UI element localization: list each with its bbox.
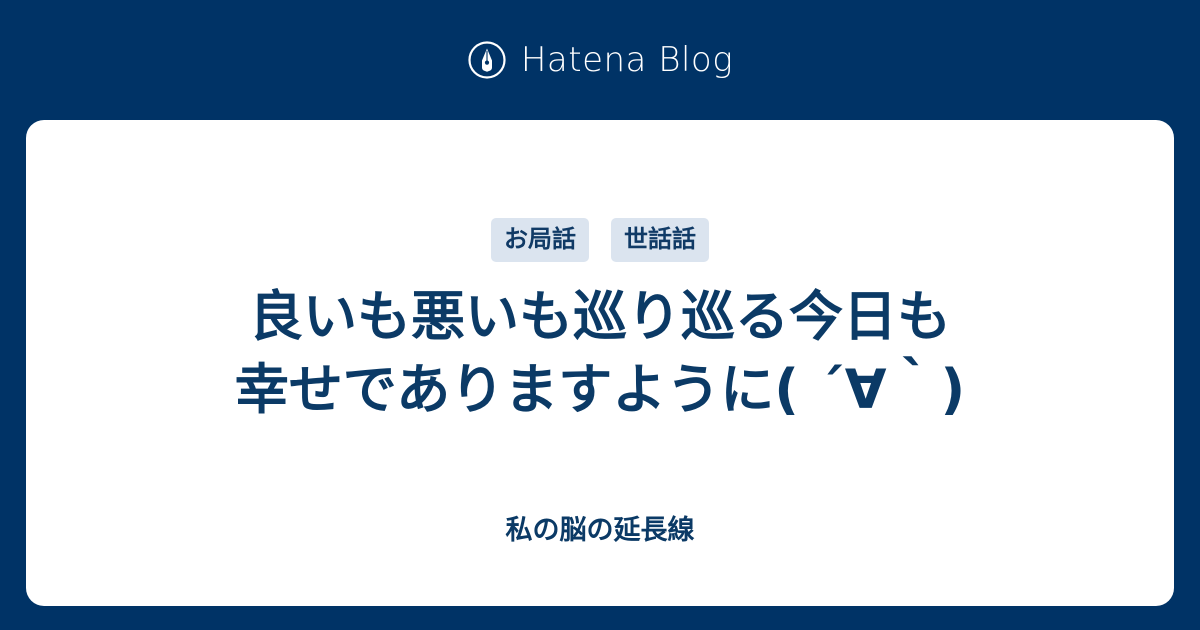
- hatena-blog-brand-name: Hatena Blog: [521, 43, 733, 77]
- entry-title-line: 幸せでありますように( ´∀｀): [100, 353, 1100, 426]
- entry-title-line: 良いも悪いも巡り巡る今日も: [100, 280, 1100, 353]
- hatena-pen-nib-icon: [467, 40, 507, 80]
- hatena-blog-brand-header: Hatena Blog: [0, 0, 1200, 120]
- entry-tag[interactable]: お局話: [491, 218, 589, 262]
- entry-tag-list: お局話 世話話: [491, 218, 709, 262]
- blog-name[interactable]: 私の脳の延長線: [26, 517, 1174, 544]
- entry-tag[interactable]: 世話話: [611, 218, 709, 262]
- entry-card: お局話 世話話 良いも悪いも巡り巡る今日も 幸せでありますように( ´∀｀) 私…: [26, 120, 1174, 606]
- entry-title: 良いも悪いも巡り巡る今日も 幸せでありますように( ´∀｀): [100, 280, 1100, 427]
